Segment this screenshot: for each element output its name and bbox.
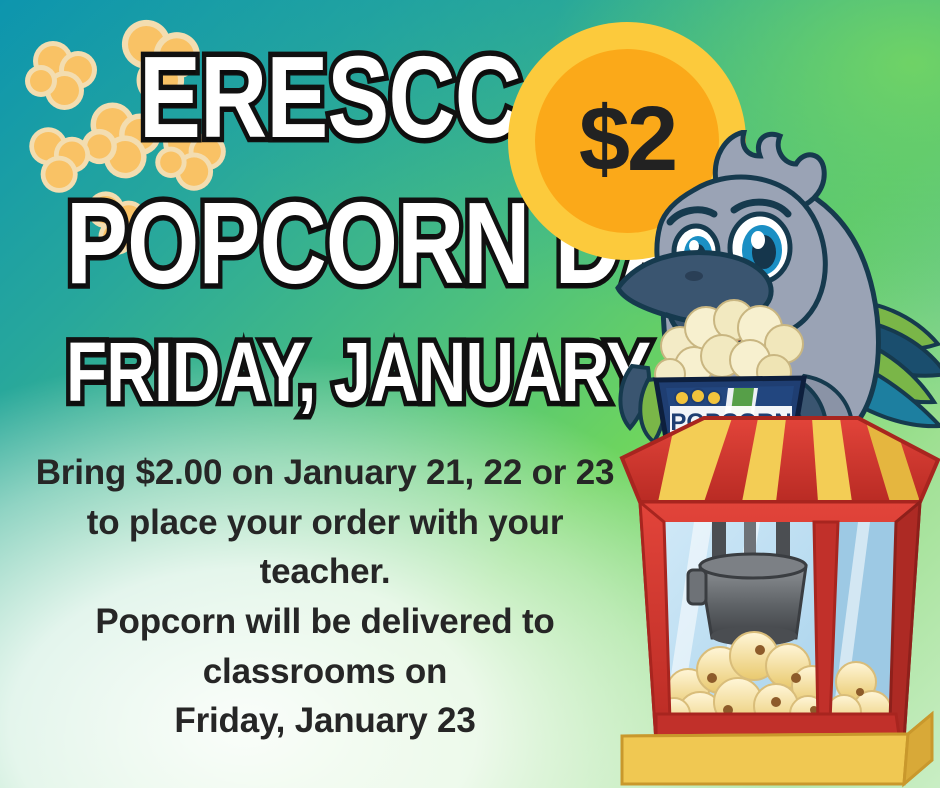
- body-line-5: classrooms on: [10, 647, 640, 697]
- popcorn-day-poster: ERESCC POPCORN DAY FRIDAY, JANUARY 23 Br…: [0, 0, 940, 788]
- body-line-3: teacher.: [10, 547, 640, 597]
- popcorn-machine: [622, 418, 938, 784]
- mascot-and-machine-artwork: POPCORN: [608, 130, 940, 788]
- body-copy: Bring $2.00 on January 21, 22 or 23 to p…: [10, 448, 640, 746]
- body-line-4: Popcorn will be delivered to: [10, 597, 640, 647]
- body-line-6: Friday, January 23: [10, 696, 640, 746]
- body-line-1: Bring $2.00 on January 21, 22 or 23: [10, 448, 640, 498]
- body-line-2: to place your order with your: [10, 498, 640, 548]
